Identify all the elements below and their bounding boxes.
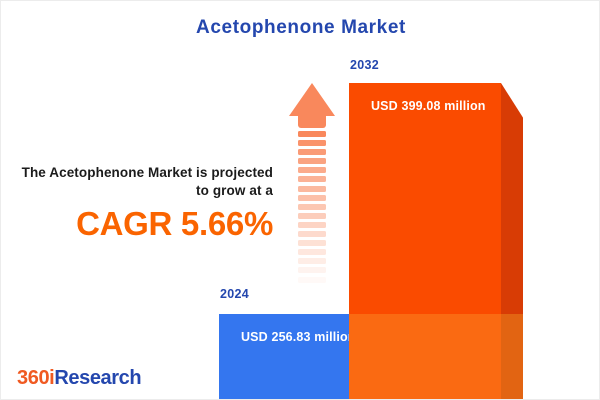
brand-logo: 360iResearch: [17, 367, 141, 390]
market-infographic: Acetophenone Market The Acetophenone Mar…: [0, 0, 600, 400]
arrow-segment: [298, 140, 326, 146]
up-arrow-icon: [289, 83, 335, 296]
arrow-segment: [298, 222, 326, 228]
bar-2032: USD 399.08 million: [349, 83, 501, 400]
arrow-segment: [298, 249, 326, 255]
cagr-callout-lead-text: The Acetophenone Market is projected to …: [21, 164, 273, 200]
bar-2032-front-face-upper: [349, 83, 501, 314]
bar-label-2024: 2024: [220, 287, 249, 301]
arrow-segment: [298, 131, 326, 137]
brand-logo-mark: 360i: [17, 367, 54, 389]
bar-2032-front-face-lower: [349, 314, 501, 400]
arrow-segment: [298, 231, 326, 237]
arrow-segment: [298, 204, 326, 210]
arrow-segment: [298, 213, 326, 219]
arrow-segment: [298, 240, 326, 246]
arrow-segment: [298, 258, 326, 264]
arrow-neck-segment: [298, 116, 326, 128]
arrow-segment: [298, 176, 326, 182]
arrow-segment: [298, 167, 326, 173]
arrow-segment: [298, 267, 326, 273]
arrow-segment: [298, 149, 326, 155]
brand-logo-word: Research: [54, 367, 141, 389]
arrow-segment: [298, 186, 326, 192]
arrow-segment: [298, 286, 326, 292]
arrow-head-icon: [289, 83, 335, 116]
bar-2032-side-face-lower: [501, 314, 523, 400]
cagr-value-text: CAGR 5.66%: [21, 206, 273, 242]
bar-2032-side-face-upper: [501, 83, 523, 314]
arrow-segment: [298, 277, 326, 283]
arrow-segment: [298, 195, 326, 201]
arrow-segment: [298, 158, 326, 164]
page-title: Acetophenone Market: [1, 17, 600, 39]
bar-2032-value-label: USD 399.08 million: [371, 99, 486, 113]
bar-2024-value-label: USD 256.83 million: [241, 330, 356, 344]
bar-label-2032: 2032: [350, 58, 379, 72]
cagr-callout: The Acetophenone Market is projected to …: [21, 164, 273, 242]
arrow-stacked-segments: [298, 131, 326, 296]
